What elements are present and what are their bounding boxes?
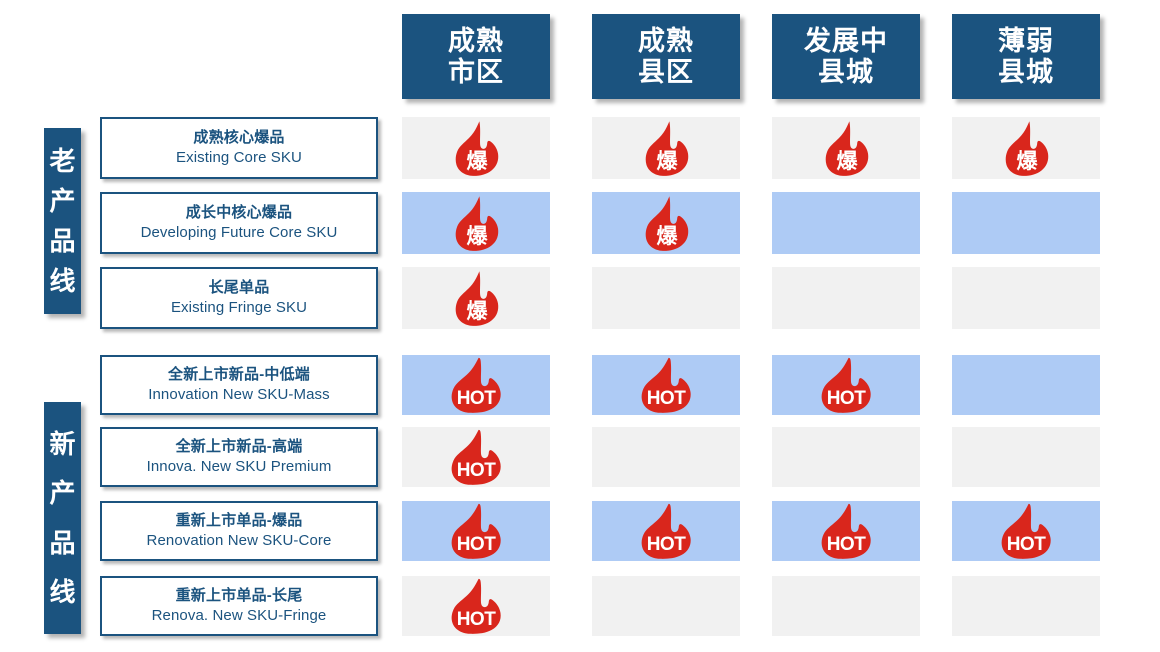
group-bar-char: 产 — [49, 480, 75, 506]
flame-icon-label: 爆 — [657, 150, 679, 173]
flame-bao-icon: 爆 — [820, 120, 872, 176]
flame-icon-label: 爆 — [467, 300, 489, 323]
group-bar-char: 线 — [49, 268, 75, 294]
matrix-cell-renovation-new-sku-fringe-mature-urban[interactable]: HOT — [402, 576, 550, 636]
flame-hot-icon: HOT — [445, 578, 507, 634]
matrix-cell-existing-core-sku-mature-urban[interactable]: 爆 — [402, 117, 550, 179]
matrix-cell-renovation-new-sku-fringe-developing-county[interactable] — [772, 576, 920, 636]
flame-icon-label: HOT — [457, 534, 497, 555]
matrix-cell-existing-fringe-sku-weak-county[interactable] — [952, 267, 1100, 329]
flame-icon-label: 爆 — [467, 150, 489, 173]
group-bar-char: 线 — [49, 579, 75, 605]
matrix-cell-developing-future-core-sku-mature-urban[interactable]: 爆 — [402, 192, 550, 254]
matrix-cell-innovation-new-sku-mass-mature-urban[interactable]: HOT — [402, 355, 550, 415]
matrix-cell-existing-core-sku-mature-county[interactable]: 爆 — [592, 117, 740, 179]
group-bar-new-product-line[interactable]: 新产品线 — [44, 402, 81, 634]
column-header-line1: 成熟 — [448, 26, 504, 56]
flame-icon-label: 爆 — [657, 225, 679, 248]
row-label-zh: 重新上市单品-爆品 — [176, 512, 303, 531]
flame-bao-icon: 爆 — [640, 195, 692, 251]
group-bar-char: 产 — [49, 188, 75, 214]
column-header-row: 成熟市区成熟县区发展中县城薄弱县城 — [0, 0, 1160, 110]
column-header-line2: 县城 — [818, 57, 874, 87]
row-label-innovation-new-sku-premium[interactable]: 全新上市新品-高端Innova. New SKU Premium — [100, 427, 378, 487]
flame-icon-label: HOT — [457, 460, 497, 481]
flame-icon-label: HOT — [1007, 534, 1047, 555]
group-bar-old-product-line[interactable]: 老产品线 — [44, 128, 81, 314]
flame-hot-icon: HOT — [445, 503, 507, 559]
matrix-cell-renovation-new-sku-fringe-weak-county[interactable] — [952, 576, 1100, 636]
flame-icon-label: 爆 — [837, 150, 859, 173]
column-header-developing-county[interactable]: 发展中县城 — [772, 14, 920, 99]
row-label-existing-core-sku[interactable]: 成熟核心爆品Existing Core SKU — [100, 117, 378, 179]
row-label-renovation-new-sku-core[interactable]: 重新上市单品-爆品Renovation New SKU-Core — [100, 501, 378, 561]
matrix-cell-existing-fringe-sku-developing-county[interactable] — [772, 267, 920, 329]
column-header-line1: 成熟 — [638, 26, 694, 56]
matrix-cell-existing-fringe-sku-mature-urban[interactable]: 爆 — [402, 267, 550, 329]
row-label-innovation-new-sku-mass[interactable]: 全新上市新品-中低端Innovation New SKU-Mass — [100, 355, 378, 415]
row-label-zh: 全新上市新品-高端 — [176, 438, 303, 457]
row-label-en: Developing Future Core SKU — [141, 223, 338, 243]
row-label-existing-fringe-sku[interactable]: 长尾单品Existing Fringe SKU — [100, 267, 378, 329]
column-header-weak-county[interactable]: 薄弱县城 — [952, 14, 1100, 99]
flame-icon-label: HOT — [647, 534, 687, 555]
matrix-cell-renovation-new-sku-core-weak-county[interactable]: HOT — [952, 501, 1100, 561]
matrix-cell-developing-future-core-sku-developing-county[interactable] — [772, 192, 920, 254]
column-header-mature-county[interactable]: 成熟县区 — [592, 14, 740, 99]
flame-bao-icon: 爆 — [1000, 120, 1052, 176]
flame-hot-icon: HOT — [445, 357, 507, 413]
row-label-zh: 全新上市新品-中低端 — [168, 366, 310, 385]
column-header-line1: 薄弱 — [998, 26, 1054, 56]
row-label-en: Renova. New SKU-Fringe — [152, 606, 327, 626]
matrix-cell-developing-future-core-sku-mature-county[interactable]: 爆 — [592, 192, 740, 254]
row-label-en: Innova. New SKU Premium — [147, 457, 332, 477]
flame-hot-icon: HOT — [815, 357, 877, 413]
matrix-cell-innovation-new-sku-premium-mature-urban[interactable]: HOT — [402, 427, 550, 487]
flame-bao-icon: 爆 — [450, 120, 502, 176]
matrix-cell-innovation-new-sku-mass-mature-county[interactable]: HOT — [592, 355, 740, 415]
column-header-mature-urban[interactable]: 成熟市区 — [402, 14, 550, 99]
row-label-en: Renovation New SKU-Core — [147, 531, 332, 551]
matrix-cell-innovation-new-sku-mass-developing-county[interactable]: HOT — [772, 355, 920, 415]
flame-icon-label: HOT — [457, 388, 497, 409]
row-label-developing-future-core-sku[interactable]: 成长中核心爆品Developing Future Core SKU — [100, 192, 378, 254]
row-label-en: Existing Core SKU — [176, 148, 302, 168]
row-label-zh: 长尾单品 — [209, 279, 270, 298]
flame-icon-label: HOT — [827, 534, 867, 555]
flame-icon-label: 爆 — [467, 225, 489, 248]
row-label-en: Innovation New SKU-Mass — [148, 385, 330, 405]
column-header-line1: 发展中 — [804, 26, 888, 56]
flame-icon-label: 爆 — [1017, 150, 1039, 173]
group-bar-char: 品 — [49, 530, 75, 556]
column-header-line2: 市区 — [448, 57, 504, 87]
flame-bao-icon: 爆 — [450, 270, 502, 326]
product-market-matrix: 成熟市区成熟县区发展中县城薄弱县城 老产品线新产品线 成熟核心爆品Existin… — [0, 0, 1160, 652]
group-bar-char: 新 — [49, 431, 75, 457]
matrix-cell-innovation-new-sku-premium-developing-county[interactable] — [772, 427, 920, 487]
flame-bao-icon: 爆 — [640, 120, 692, 176]
row-label-zh: 成长中核心爆品 — [186, 204, 292, 223]
row-label-renovation-new-sku-fringe[interactable]: 重新上市单品-长尾Renova. New SKU-Fringe — [100, 576, 378, 636]
flame-icon-label: HOT — [457, 609, 497, 630]
flame-hot-icon: HOT — [635, 503, 697, 559]
matrix-cell-innovation-new-sku-premium-mature-county[interactable] — [592, 427, 740, 487]
flame-hot-icon: HOT — [995, 503, 1057, 559]
matrix-cell-innovation-new-sku-mass-weak-county[interactable] — [952, 355, 1100, 415]
matrix-cell-renovation-new-sku-core-mature-county[interactable]: HOT — [592, 501, 740, 561]
row-label-zh: 重新上市单品-长尾 — [176, 587, 303, 606]
matrix-cell-renovation-new-sku-core-developing-county[interactable]: HOT — [772, 501, 920, 561]
matrix-cell-developing-future-core-sku-weak-county[interactable] — [952, 192, 1100, 254]
row-label-zh: 成熟核心爆品 — [193, 129, 284, 148]
column-header-line2: 县区 — [638, 57, 694, 87]
flame-icon-label: HOT — [827, 388, 867, 409]
matrix-cell-existing-core-sku-weak-county[interactable]: 爆 — [952, 117, 1100, 179]
flame-icon-label: HOT — [647, 388, 687, 409]
flame-hot-icon: HOT — [635, 357, 697, 413]
matrix-cell-renovation-new-sku-fringe-mature-county[interactable] — [592, 576, 740, 636]
matrix-cell-innovation-new-sku-premium-weak-county[interactable] — [952, 427, 1100, 487]
flame-bao-icon: 爆 — [450, 195, 502, 251]
group-bar-char: 品 — [49, 228, 75, 254]
matrix-cell-renovation-new-sku-core-mature-urban[interactable]: HOT — [402, 501, 550, 561]
row-label-en: Existing Fringe SKU — [171, 298, 307, 318]
flame-hot-icon: HOT — [445, 429, 507, 485]
group-bar-char: 老 — [49, 148, 75, 174]
matrix-cell-existing-core-sku-developing-county[interactable]: 爆 — [772, 117, 920, 179]
matrix-cell-existing-fringe-sku-mature-county[interactable] — [592, 267, 740, 329]
column-header-line2: 县城 — [998, 57, 1054, 87]
flame-hot-icon: HOT — [815, 503, 877, 559]
